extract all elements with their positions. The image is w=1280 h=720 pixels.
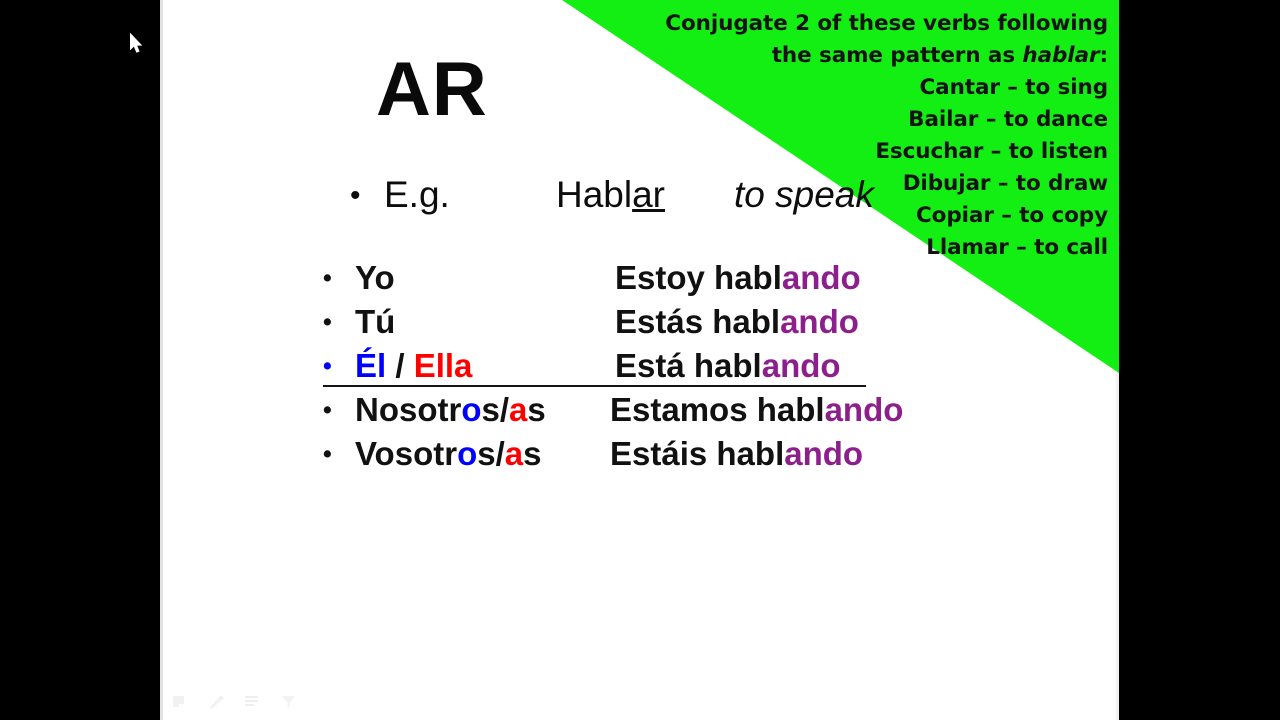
banner-instruction-line-2-after: : — [1100, 43, 1109, 68]
pronoun-cell: Vosotros/as — [355, 432, 610, 476]
slide-menu-icon[interactable] — [244, 694, 262, 710]
example-verb-ending: ar — [632, 174, 665, 215]
verb-text-part: Está habl — [615, 347, 762, 384]
slide-title: AR — [376, 48, 488, 132]
example-row: •E.g.Hablarto speak — [350, 168, 1050, 223]
presentation-toolbar[interactable] — [172, 694, 298, 710]
mouse-cursor-icon — [130, 33, 144, 55]
pronoun-text-part: Tú — [355, 303, 395, 340]
verb-text-part: ando — [782, 259, 861, 296]
banner-instruction-verb: hablar — [1022, 43, 1099, 68]
green-banner-text: Conjugate 2 of these verbs following the… — [560, 8, 1108, 264]
verb-text-part: Estamos habl — [610, 391, 825, 428]
conjugation-list: •YoEstoy hablando•TúEstás hablando•Él / … — [323, 256, 1023, 476]
pronoun-text-part: Él — [355, 347, 386, 384]
conjugation-row: •Él / EllaEstá hablando — [323, 344, 1023, 388]
singular-plural-divider — [323, 385, 866, 387]
pronoun-cell: Nosotros/as — [355, 388, 610, 432]
banner-instruction-line-2-before: the same pattern as — [772, 43, 1023, 68]
pen-icon[interactable] — [208, 694, 226, 710]
verb-text-part: Estás habl — [615, 303, 780, 340]
pronoun-cell: Tú — [355, 300, 615, 344]
bullet-icon: • — [323, 432, 355, 476]
verb-text-part: ando — [825, 391, 904, 428]
presentation-slide: Conjugate 2 of these verbs following the… — [160, 0, 1119, 720]
bullet-icon: • — [323, 388, 355, 432]
pronoun-text-part: Vosotr — [355, 435, 457, 472]
bullet-icon: • — [323, 344, 355, 388]
pronoun-cell: Yo — [355, 256, 615, 300]
banner-verb-item-2: Escuchar – to listen — [560, 136, 1108, 168]
conjugated-verb-cell: Estás hablando — [615, 300, 859, 344]
verb-text-part: Estáis habl — [610, 435, 784, 472]
verb-text-part: ando — [784, 435, 863, 472]
bullet-icon: • — [350, 169, 384, 223]
pronoun-text-part: o — [457, 435, 477, 472]
pronoun-text-part: Nosotr — [355, 391, 461, 428]
banner-verb-item-1: Bailar – to dance — [560, 104, 1108, 136]
verb-text-part: Estoy habl — [615, 259, 782, 296]
pronoun-text-part: s/ — [482, 391, 510, 428]
pronoun-text-part: a — [505, 435, 523, 472]
banner-verb-item-0: Cantar – to sing — [560, 72, 1108, 104]
example-verb: Hablar — [556, 168, 734, 222]
pronoun-text-part: s — [523, 435, 541, 472]
verb-text-part: ando — [780, 303, 859, 340]
conjugation-row: •Nosotros/asEstamos hablando — [323, 388, 1023, 432]
conjugated-verb-cell: Estáis hablando — [610, 432, 863, 476]
example-label: E.g. — [384, 168, 556, 222]
banner-instruction-line-2: the same pattern as hablar: — [560, 40, 1108, 72]
video-player-stage: Conjugate 2 of these verbs following the… — [0, 0, 1280, 720]
pronoun-text-part: / — [386, 347, 414, 384]
verb-text-part: ando — [762, 347, 841, 384]
bullet-icon: • — [323, 256, 355, 300]
pronoun-text-part: Ella — [414, 347, 473, 384]
bullet-icon: • — [323, 300, 355, 344]
slide-left-edge — [160, 0, 163, 720]
pronoun-text-part: Yo — [355, 259, 395, 296]
pronoun-cell: Él / Ella — [355, 344, 615, 388]
zoom-icon[interactable] — [280, 694, 298, 710]
conjugation-row: •YoEstoy hablando — [323, 256, 1023, 300]
conjugated-verb-cell: Estoy hablando — [615, 256, 861, 300]
banner-instruction-line-1: Conjugate 2 of these verbs following — [560, 8, 1108, 40]
conjugation-row: •TúEstás hablando — [323, 300, 1023, 344]
pronoun-text-part: a — [509, 391, 527, 428]
pronoun-text-part: s — [527, 391, 545, 428]
pronoun-text-part: o — [461, 391, 481, 428]
example-gloss: to speak — [734, 174, 874, 215]
present-view-icon[interactable] — [172, 694, 190, 710]
example-verb-stem: Habl — [556, 174, 632, 215]
conjugation-row: •Vosotros/asEstáis hablando — [323, 432, 1023, 476]
conjugated-verb-cell: Estamos hablando — [610, 388, 903, 432]
pronoun-text-part: s/ — [477, 435, 505, 472]
conjugated-verb-cell: Está hablando — [615, 344, 841, 388]
